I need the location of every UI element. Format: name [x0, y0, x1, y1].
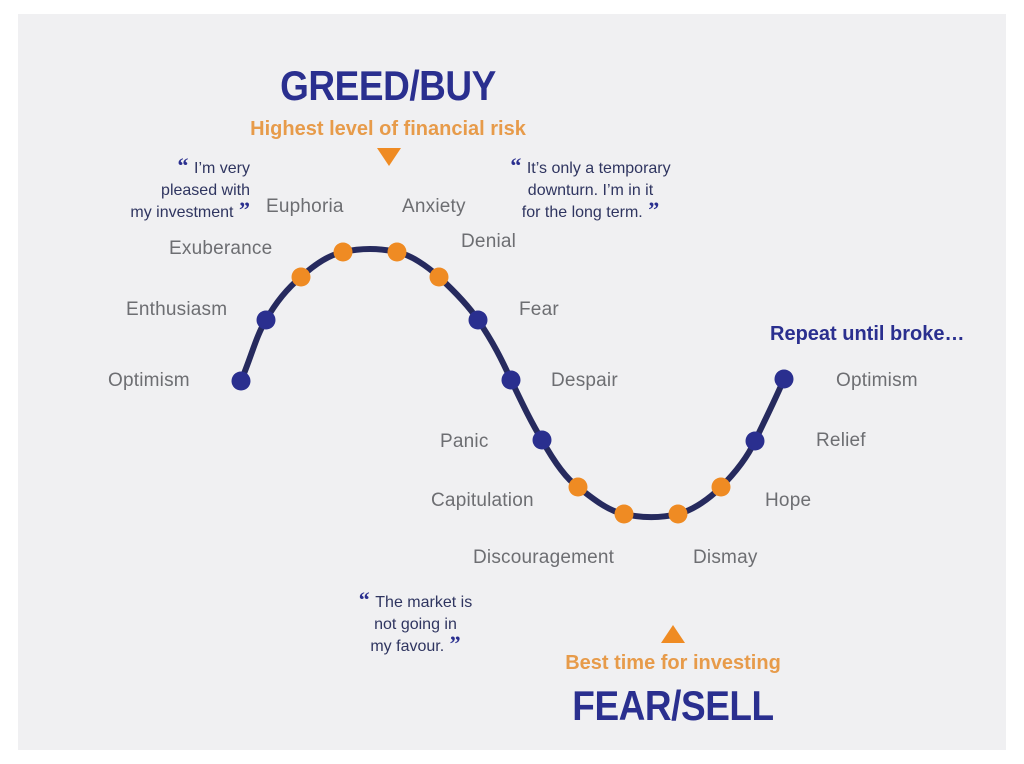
- quote-temporary-downturn: “ It’s only a temporarydownturn. I’m in …: [478, 158, 703, 224]
- fear-sell-title: FEAR/SELL: [488, 682, 858, 730]
- quote-close-mark-icon: ”: [234, 197, 251, 222]
- curve-point-exuberance-2: [292, 268, 311, 287]
- curve-point-despair-7: [502, 371, 521, 390]
- triangle-up-icon: [661, 625, 685, 643]
- emotion-label-fear-6: Fear: [519, 299, 559, 321]
- emotion-label-hope-12: Hope: [765, 490, 811, 512]
- curve-point-fear-6: [469, 311, 488, 330]
- curve-point-optimism-0: [232, 372, 251, 391]
- emotion-label-optimism-14: Optimism: [836, 370, 918, 392]
- quote-line: my investment ”: [70, 202, 250, 224]
- quote-line: for the long term. ”: [478, 202, 703, 224]
- emotion-label-optimism-0: Optimism: [108, 370, 190, 392]
- greed-buy-subtitle: Highest level of financial risk: [178, 118, 598, 141]
- curve-point-anxiety-4: [388, 243, 407, 262]
- curve-point-hope-12: [712, 478, 731, 497]
- emotion-label-anxiety-4: Anxiety: [402, 196, 466, 218]
- emotion-label-relief-13: Relief: [816, 430, 866, 452]
- quote-close-mark-icon: ”: [643, 197, 660, 222]
- curve-markers: [232, 243, 794, 524]
- curve-point-denial-5: [430, 268, 449, 287]
- infographic-board: GREED/BUY Highest level of financial ris…: [18, 14, 1006, 750]
- curve-point-capitulation-9: [569, 478, 588, 497]
- curve-point-panic-8: [533, 431, 552, 450]
- quote-investment: “ I’m verypleased withmy investment ”: [70, 158, 250, 224]
- emotion-label-capitulation-9: Capitulation: [431, 490, 534, 512]
- quote-line: not going in: [328, 614, 503, 636]
- emotion-label-despair-7: Despair: [551, 370, 618, 392]
- quote-text: downturn. I’m in it: [528, 182, 653, 199]
- greed-buy-title: GREED/BUY: [203, 62, 573, 110]
- emotion-label-denial-5: Denial: [461, 231, 516, 253]
- quote-open-mark-icon: “: [510, 153, 527, 178]
- infographic-canvas: GREED/BUY Highest level of financial ris…: [0, 0, 1024, 764]
- quote-line: downturn. I’m in it: [478, 180, 703, 202]
- quote-line: pleased with: [70, 180, 250, 202]
- quote-open-mark-icon: “: [359, 587, 376, 612]
- quote-text: The market is: [375, 594, 472, 611]
- curve-line: [241, 249, 784, 517]
- quote-text: my investment: [130, 204, 233, 221]
- triangle-down-icon: [377, 148, 401, 166]
- curve-point-euphoria-3: [334, 243, 353, 262]
- quote-open-mark-icon: “: [178, 153, 195, 178]
- quote-line: my favour. ”: [328, 636, 503, 658]
- curve-point-enthusiasm-1: [257, 311, 276, 330]
- quote-text: for the long term.: [522, 204, 643, 221]
- quote-line: “ It’s only a temporary: [478, 158, 703, 180]
- emotion-label-discouragement-10: Discouragement: [473, 547, 614, 569]
- curve-point-relief-13: [746, 432, 765, 451]
- emotion-label-euphoria-3: Euphoria: [266, 196, 344, 218]
- emotion-label-panic-8: Panic: [440, 431, 489, 453]
- quote-text: my favour.: [370, 638, 444, 655]
- curve-point-optimism-14: [775, 370, 794, 389]
- quote-line: “ The market is: [328, 592, 503, 614]
- repeat-until-broke-note: Repeat until broke…: [770, 323, 964, 346]
- curve-point-discouragement-10: [615, 505, 634, 524]
- emotion-label-enthusiasm-1: Enthusiasm: [126, 299, 227, 321]
- quote-market-not-favour: “ The market isnot going inmy favour. ”: [328, 592, 503, 658]
- fear-sell-subtitle: Best time for investing: [463, 652, 883, 675]
- quote-text: It’s only a temporary: [527, 160, 671, 177]
- quote-text: I’m very: [194, 160, 250, 177]
- quote-line: “ I’m very: [70, 158, 250, 180]
- quote-close-mark-icon: ”: [444, 631, 461, 656]
- curve-point-dismay-11: [669, 505, 688, 524]
- emotion-label-exuberance-2: Exuberance: [169, 238, 272, 260]
- emotion-label-dismay-11: Dismay: [693, 547, 758, 569]
